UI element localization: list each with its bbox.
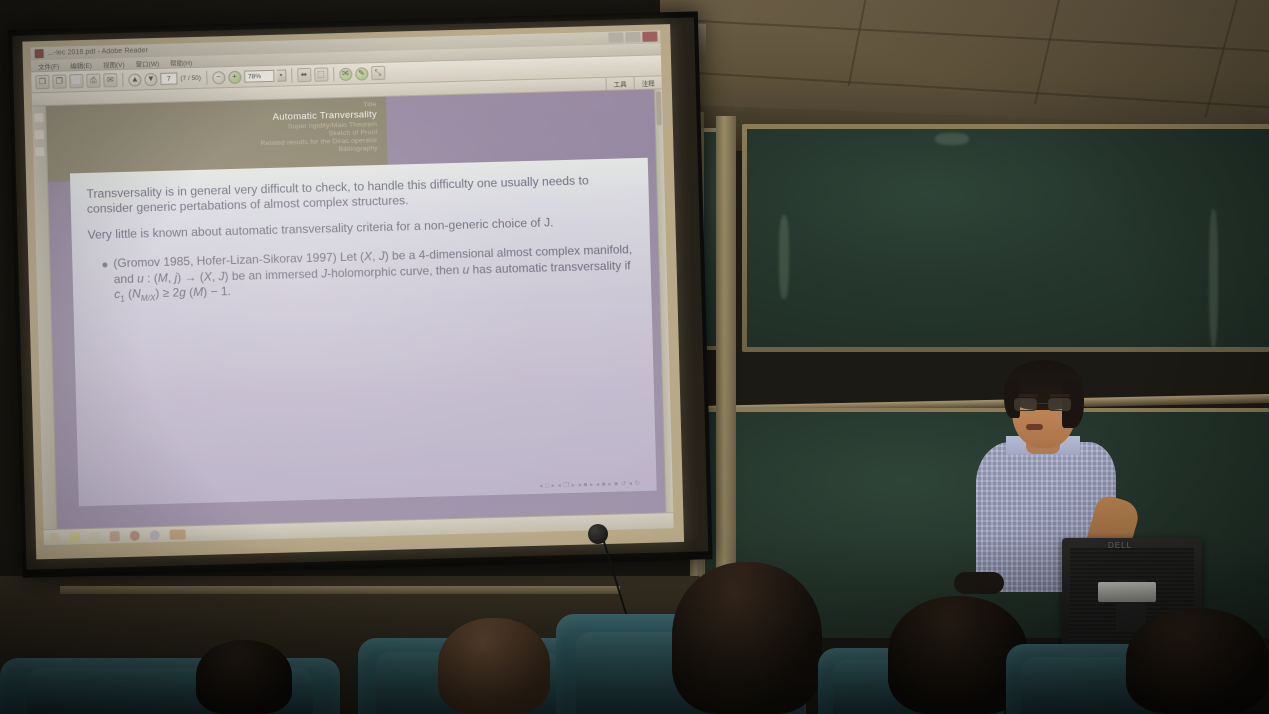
save-icon[interactable]: ⬜ <box>69 74 83 88</box>
audience-head <box>672 562 822 714</box>
slide-bullet-item: (Gromov 1985, Hofer-Lizan-Sikorav 1997) … <box>88 242 637 306</box>
beamer-navigation-symbols[interactable]: ◂ □ ▸ ◂ ❐ ▸ ◂ ■ ▸ ◂ ■ ▸ ■ ↺ ◂ ↻ <box>539 479 640 490</box>
player-icon[interactable] <box>130 530 140 540</box>
audience-head <box>196 640 292 714</box>
attachments-icon[interactable] <box>35 147 44 156</box>
explorer-icon[interactable] <box>90 531 100 541</box>
chalkboard-frame-upper-right <box>742 124 1269 352</box>
comment-icon[interactable]: ✉ <box>339 67 352 80</box>
audience-head <box>438 618 550 714</box>
highlight-icon[interactable]: ✎ <box>355 67 368 80</box>
minimize-button[interactable] <box>608 32 623 42</box>
menu-window[interactable]: 窗口(W) <box>135 57 159 68</box>
screen-surface: ...-lec 2016.pdf - Adobe Reader 文件(F) 编辑… <box>22 24 684 559</box>
beamer-slide: Title Automatic Tranversality Super rigi… <box>46 90 665 529</box>
scrollbar-thumb[interactable] <box>656 91 662 125</box>
app-icon[interactable] <box>150 530 160 540</box>
pdf-document-icon <box>35 49 44 58</box>
email-icon[interactable]: ✉ <box>103 73 117 87</box>
menu-view[interactable]: 视图(V) <box>103 58 125 69</box>
tab-tools[interactable]: 工具 <box>606 77 634 90</box>
chalkboard-upper-right <box>747 129 1269 347</box>
slide-content-box: Transversality is in general very diffic… <box>70 158 657 507</box>
maximize-button[interactable] <box>625 32 640 42</box>
close-button[interactable] <box>642 31 657 41</box>
speaker-eyebrow-left <box>1018 394 1038 397</box>
open-file-icon[interactable]: ❐ <box>35 75 49 89</box>
slide-text-block: Transversality is in general very diffic… <box>86 172 637 306</box>
speaker-eyebrow-right <box>1050 394 1070 397</box>
slide-nav-title[interactable]: Title <box>363 101 377 108</box>
fullscreen-icon[interactable]: ⤡ <box>371 66 385 80</box>
print-icon[interactable]: ⎙ <box>86 74 100 88</box>
projection-screen: ...-lec 2016.pdf - Adobe Reader 文件(F) 编辑… <box>8 11 713 577</box>
window-title: ...-lec 2016.pdf - Adobe Reader <box>48 47 149 57</box>
fit-page-icon[interactable]: ⬚ <box>314 67 328 81</box>
dell-logo: DELL <box>1108 541 1132 550</box>
next-page-icon[interactable]: ▼ <box>144 72 157 85</box>
speaker-mouth <box>1026 424 1043 430</box>
eyeglasses-icon <box>1014 398 1072 411</box>
pdf-page-view[interactable]: Title Automatic Tranversality Super rigi… <box>46 89 673 529</box>
slide-nav-sketch-of-proof[interactable]: Sketch of Proof <box>329 129 378 137</box>
media-icon[interactable] <box>110 531 120 541</box>
slide-bullet-text: (Gromov 1985, Hofer-Lizan-Sikorav 1997) … <box>113 242 637 305</box>
menu-edit[interactable]: 编辑(E) <box>70 59 92 70</box>
slide-nav-bibliography[interactable]: Bibliography <box>339 145 378 153</box>
toolbar-separator <box>206 71 207 85</box>
speaker-hand <box>954 572 1004 594</box>
bullet-marker-icon <box>102 263 107 268</box>
window-controls <box>608 31 657 42</box>
toolbar-separator <box>291 68 292 82</box>
slide-paragraph-2: Very little is known about automatic tra… <box>87 213 635 243</box>
menu-help[interactable]: 帮助(H) <box>170 57 192 68</box>
fit-width-icon[interactable]: ⬌ <box>297 68 311 82</box>
menu-file[interactable]: 文件(F) <box>38 60 60 71</box>
page-count-label: (7 / 50) <box>180 74 201 82</box>
chevron-down-icon[interactable]: ▾ <box>277 70 286 82</box>
audience-head <box>1126 608 1268 714</box>
document-area: Title Automatic Tranversality Super rigi… <box>32 89 673 529</box>
page-thumbnails-icon[interactable] <box>34 113 43 122</box>
create-pdf-icon[interactable]: ❐ <box>52 74 66 88</box>
stage-wall-ledge <box>60 586 620 594</box>
zoom-in-icon[interactable]: + <box>228 70 241 83</box>
previous-page-icon[interactable]: ▲ <box>128 73 141 86</box>
page-number-input[interactable]: 7 <box>160 72 177 84</box>
start-orb-icon[interactable] <box>50 532 60 542</box>
pdf-icon[interactable] <box>170 529 186 539</box>
microphone-head-icon <box>588 524 608 544</box>
slide-body: Transversality is in general very diffic… <box>48 166 665 529</box>
lecture-hall-photo: ...-lec 2016.pdf - Adobe Reader 文件(F) 编辑… <box>0 0 1269 714</box>
zoom-level-value[interactable]: 78% <box>244 70 274 83</box>
zoom-out-icon[interactable]: − <box>212 71 225 84</box>
adobe-reader-window: ...-lec 2016.pdf - Adobe Reader 文件(F) 编辑… <box>30 30 673 545</box>
slide-paragraph-1: Transversality is in general very diffic… <box>86 172 635 218</box>
toolbar-separator <box>122 73 123 87</box>
bookmarks-icon[interactable] <box>35 130 44 139</box>
browser-icon[interactable] <box>70 532 80 542</box>
tab-comment[interactable]: 注释 <box>634 76 662 89</box>
monitor-label-plate <box>1098 582 1156 602</box>
toolbar-separator <box>333 67 334 81</box>
